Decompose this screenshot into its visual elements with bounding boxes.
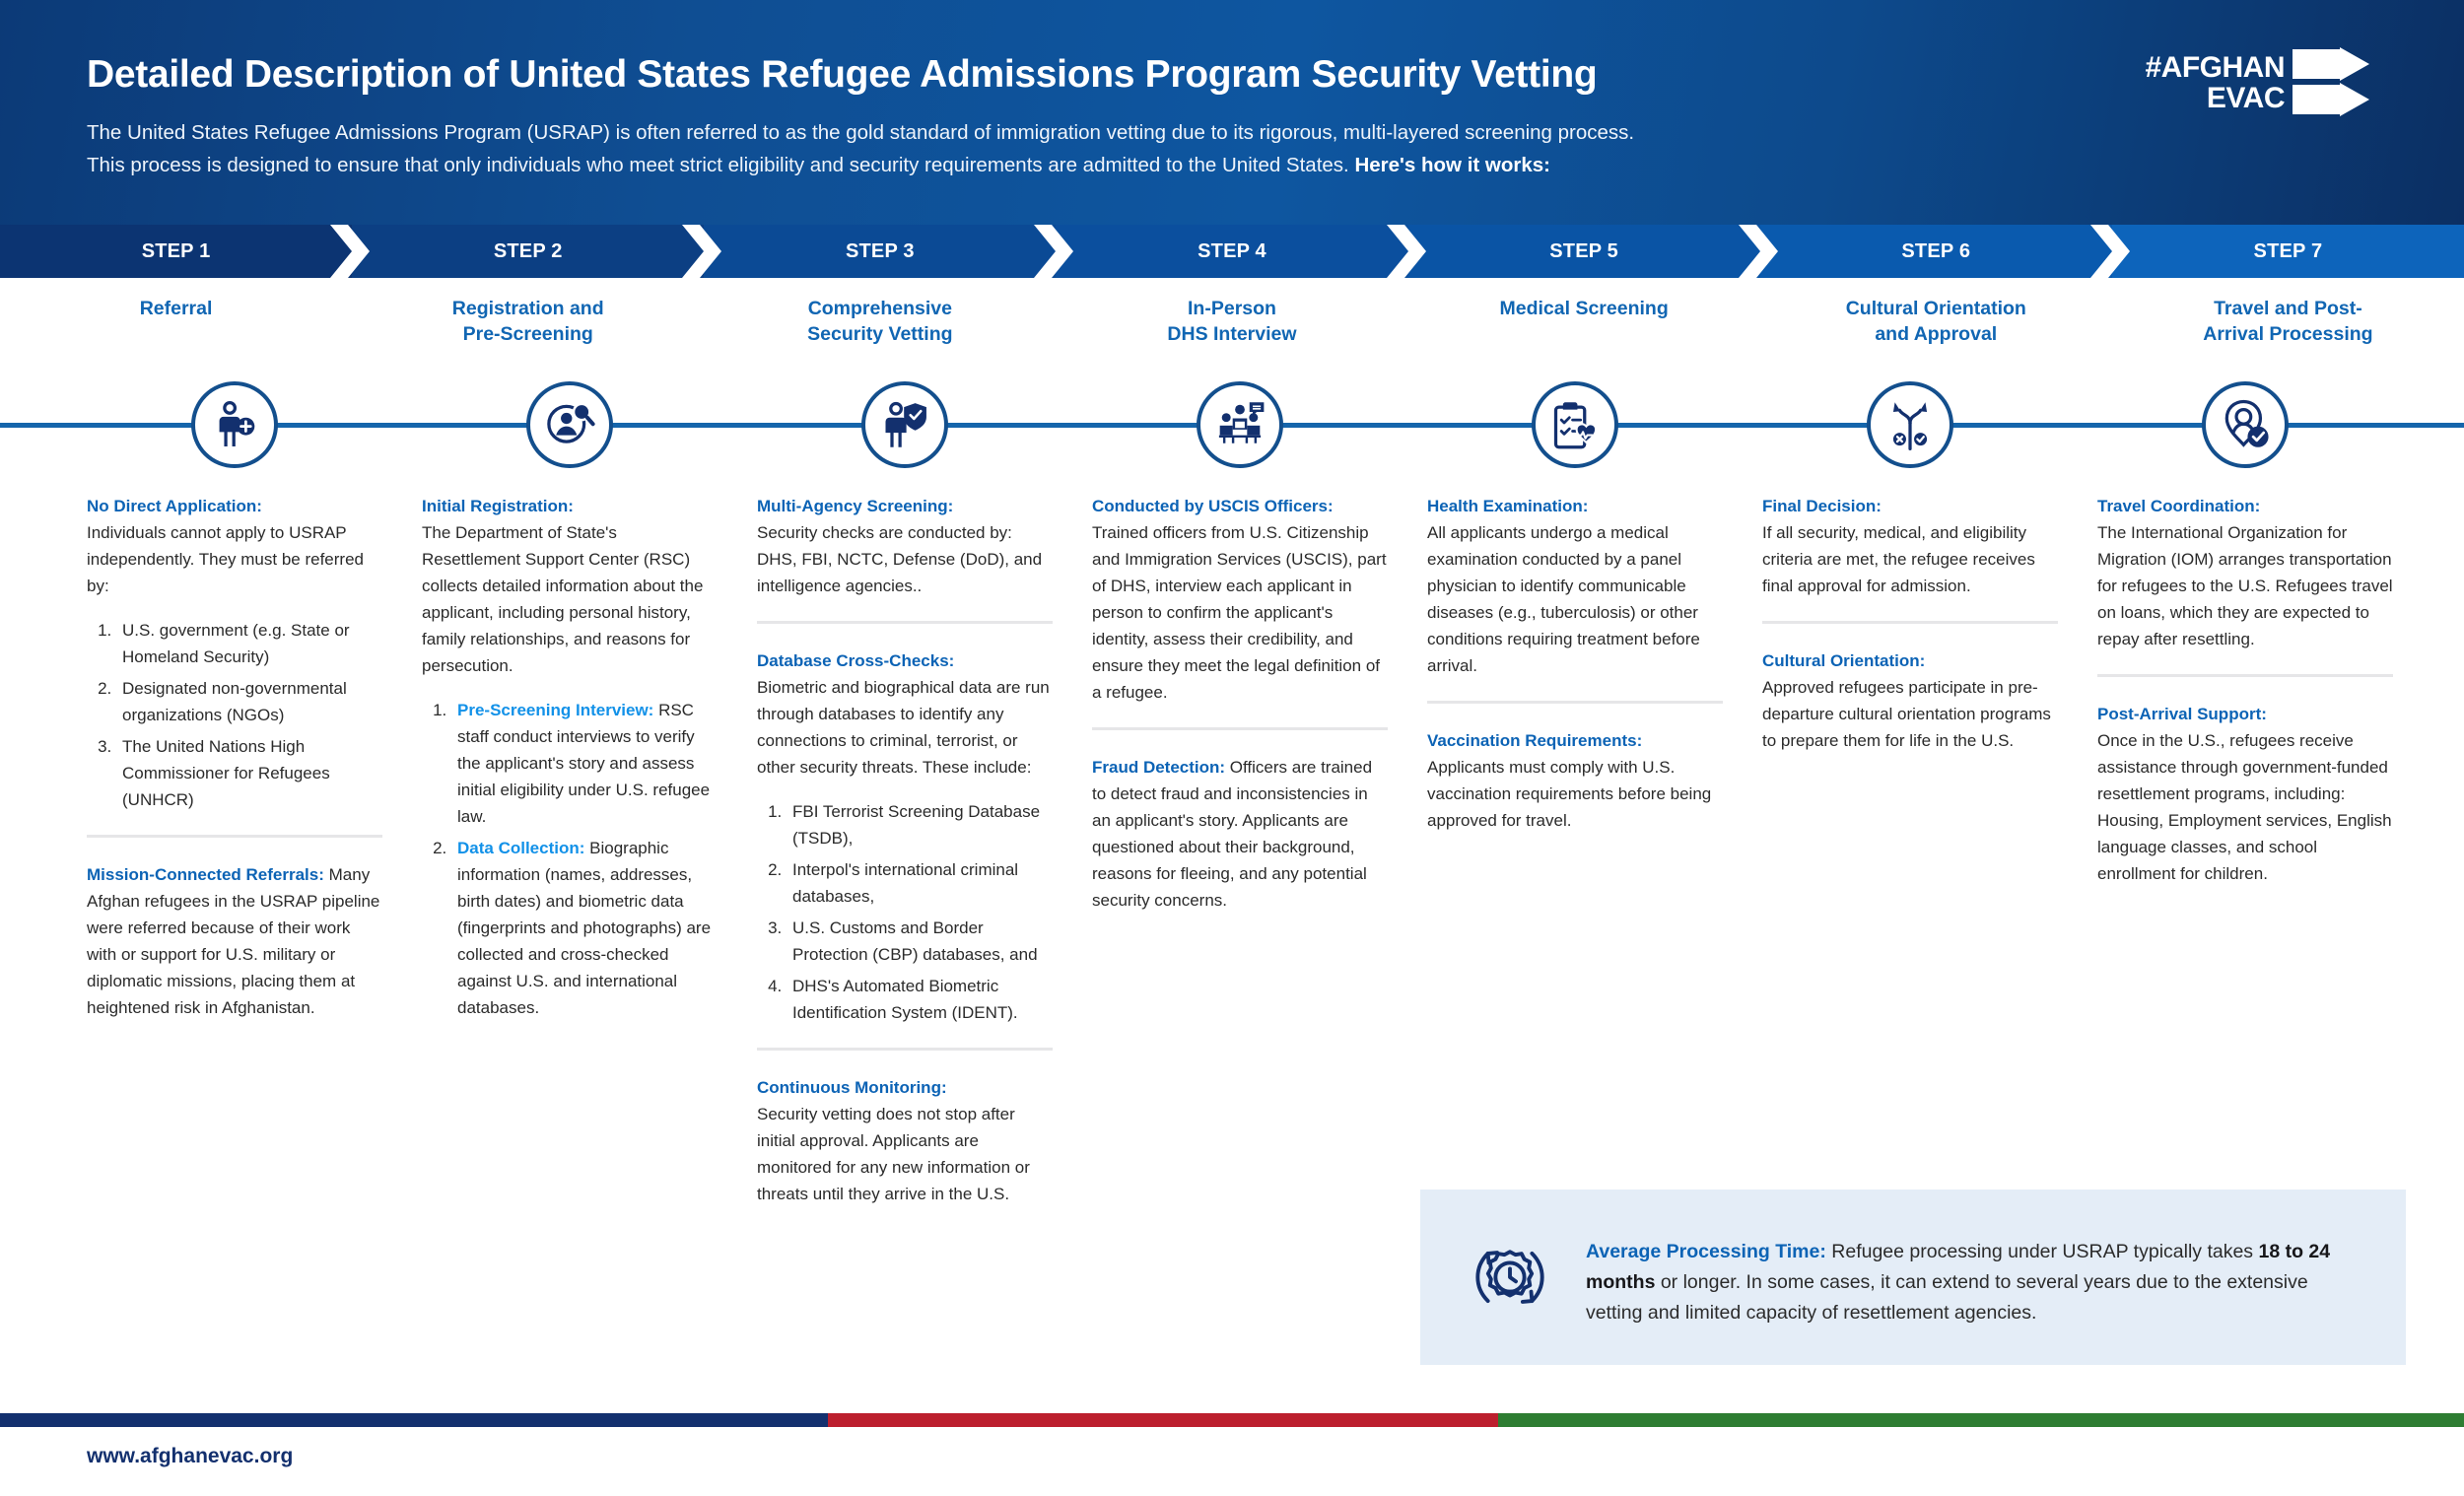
block-paragraph: Multi-Agency Screening:Security checks a… [757, 493, 1053, 599]
block-divider [757, 1048, 1053, 1051]
step-band-segment-2[interactable]: STEP 2 [352, 225, 704, 278]
step-node-7[interactable] [2202, 381, 2289, 468]
clock-gear-icon [1468, 1235, 1552, 1320]
callout-heading: Average Processing Time: [1586, 1241, 1826, 1262]
block-paragraph: No Direct Application:Individuals cannot… [87, 493, 382, 599]
block-heading: Initial Registration: [422, 497, 574, 515]
step-column-4: Conducted by USCIS Officers:Trained offi… [1092, 493, 1388, 914]
content-block: Fraud Detection: Officers are trained to… [1092, 754, 1388, 914]
block-heading: Final Decision: [1762, 497, 1882, 515]
list-item-text: RSC staff conduct interviews to verify t… [457, 701, 710, 826]
page-header: Detailed Description of United States Re… [0, 0, 2464, 225]
list-item: The United Nations High Commissioner for… [116, 733, 382, 813]
step-band-segment-5[interactable]: STEP 5 [1408, 225, 1760, 278]
content-block: Post-Arrival Support:Once in the U.S., r… [2097, 701, 2393, 887]
list-item-label: Pre-Screening Interview: [457, 701, 653, 719]
step-node-5[interactable] [1532, 381, 1618, 468]
block-body: Approved refugees participate in pre-dep… [1762, 678, 2051, 750]
step-badge-label: STEP 7 [2254, 240, 2323, 263]
block-body: The Department of State's Resettlement S… [422, 523, 703, 675]
block-heading: Cultural Orientation: [1762, 651, 1925, 670]
step-column-5: Health Examination:All applicants underg… [1427, 493, 1723, 834]
block-heading: Multi-Agency Screening: [757, 497, 953, 515]
block-divider [1762, 621, 2058, 624]
footer-color-bar [0, 1413, 2464, 1427]
block-paragraph: Final Decision:If all security, medical,… [1762, 493, 2058, 599]
callout-text-b: or longer. In some cases, it can extend … [1586, 1271, 2308, 1324]
list-item: Pre-Screening Interview: RSC staff condu… [451, 697, 718, 830]
block-paragraph: Continuous Monitoring:Security vetting d… [757, 1074, 1053, 1207]
footer-bar-green [1498, 1413, 2464, 1427]
block-paragraph: Vaccination Requirements:Applicants must… [1427, 727, 1723, 834]
step-title-7: Travel and Post-Arrival Processing [2112, 296, 2464, 347]
page-title: Detailed Description of United States Re… [87, 53, 1597, 97]
step-column-7: Travel Coordination:The International Or… [2097, 493, 2393, 887]
double-arrow-icon [2293, 47, 2371, 118]
location-person-check-icon [2220, 399, 2271, 450]
footer-bar-navy [0, 1413, 828, 1427]
list-item: Data Collection: Biographic information … [451, 835, 718, 1021]
block-heading: Continuous Monitoring: [757, 1078, 947, 1097]
step-title-3: ComprehensiveSecurity Vetting [704, 296, 1056, 347]
list-item: FBI Terrorist Screening Database (TSDB), [787, 798, 1053, 851]
step-node-6[interactable] [1867, 381, 1953, 468]
content-block: Mission-Connected Referrals: Many Afghan… [87, 861, 382, 1021]
content-block: Conducted by USCIS Officers:Trained offi… [1092, 493, 1388, 706]
step-title-2: Registration andPre-Screening [352, 296, 704, 347]
step-node-2[interactable] [526, 381, 613, 468]
step-title-5: Medical Screening [1408, 296, 1760, 321]
logo-line-2: EVAC [2117, 83, 2285, 113]
step-column-1: No Direct Application:Individuals cannot… [87, 493, 382, 1021]
footer-website-link[interactable]: www.afghanevac.org [87, 1445, 293, 1468]
step-node-1[interactable] [191, 381, 278, 468]
list-item: Interpol's international criminal databa… [787, 856, 1053, 910]
step-column-3: Multi-Agency Screening:Security checks a… [757, 493, 1053, 1207]
step-title-1: Referral [0, 296, 352, 321]
content-block: Vaccination Requirements:Applicants must… [1427, 727, 1723, 834]
block-divider [87, 835, 382, 838]
step-badge-label: STEP 4 [1198, 240, 1266, 263]
step-badge-label: STEP 3 [846, 240, 915, 263]
step-band-segment-6[interactable]: STEP 6 [1760, 225, 2112, 278]
block-heading: No Direct Application: [87, 497, 262, 515]
content-block: Health Examination:All applicants underg… [1427, 493, 1723, 679]
step-chevron-separator-4 [1387, 225, 1426, 278]
block-divider [1427, 701, 1723, 704]
footer-bar-red [828, 1413, 1498, 1427]
step-column-6: Final Decision:If all security, medical,… [1762, 493, 2058, 754]
subtitle-line-2: This process is designed to ensure that … [87, 154, 1354, 176]
block-divider [1092, 727, 1388, 730]
block-body: Once in the U.S., refugees receive assis… [2097, 731, 2392, 883]
afghanevac-logo[interactable]: #AFGHAN EVAC [2117, 47, 2373, 138]
decision-arrows-icon [1884, 399, 1936, 450]
block-paragraph: Travel Coordination:The International Or… [2097, 493, 2393, 652]
step-node-3[interactable] [861, 381, 948, 468]
subtitle-line-1: The United States Refugee Admissions Pro… [87, 121, 1634, 144]
block-paragraph: Conducted by USCIS Officers:Trained offi… [1092, 493, 1388, 706]
step-chevron-separator-6 [2090, 225, 2130, 278]
list-item: Designated non-governmental organization… [116, 675, 382, 728]
block-body: The International Organization for Migra… [2097, 523, 2393, 648]
step-band-segment-1[interactable]: STEP 1 [0, 225, 352, 278]
step-badge-label: STEP 1 [142, 240, 211, 263]
content-block: No Direct Application:Individuals cannot… [87, 493, 382, 813]
content-block: Travel Coordination:The International Or… [2097, 493, 2393, 652]
list-item: U.S. Customs and Border Protection (CBP)… [787, 915, 1053, 968]
block-paragraph: Health Examination:All applicants underg… [1427, 493, 1723, 679]
step-band-segment-4[interactable]: STEP 4 [1056, 225, 1407, 278]
block-body: Many Afghan refugees in the USRAP pipeli… [87, 865, 379, 1017]
list-item: U.S. government (e.g. State or Homeland … [116, 617, 382, 670]
content-block: Database Cross-Checks:Biometric and biog… [757, 647, 1053, 1026]
step-chevron-separator-1 [330, 225, 370, 278]
step-badge-label: STEP 2 [494, 240, 563, 263]
block-heading: Conducted by USCIS Officers: [1092, 497, 1334, 515]
block-divider [757, 621, 1053, 624]
step-chevron-separator-3 [1034, 225, 1073, 278]
block-paragraph: Mission-Connected Referrals: Many Afghan… [87, 861, 382, 1021]
block-body: All applicants undergo a medical examina… [1427, 523, 1700, 675]
interview-panel-icon [1214, 399, 1266, 450]
subtitle-emphasis: Here's how it works: [1354, 154, 1550, 176]
content-block: Final Decision:If all security, medical,… [1762, 493, 2058, 599]
content-block: Continuous Monitoring:Security vetting d… [757, 1074, 1053, 1207]
list-item: DHS's Automated Biometric Identification… [787, 973, 1053, 1026]
person-shield-icon [879, 399, 930, 450]
step-badge-label: STEP 6 [1901, 240, 1970, 263]
block-body: Security vetting does not stop after ini… [757, 1105, 1030, 1203]
block-heading: Travel Coordination: [2097, 497, 2260, 515]
step-band-segment-7[interactable]: STEP 7 [2112, 225, 2464, 278]
block-body: Security checks are conducted by: DHS, F… [757, 523, 1042, 595]
block-paragraph: Initial Registration:The Department of S… [422, 493, 718, 679]
logo-wordmark: #AFGHAN EVAC [2117, 52, 2285, 113]
block-paragraph: Cultural Orientation:Approved refugees p… [1762, 647, 2058, 754]
user-search-icon [544, 399, 595, 450]
block-paragraph: Post-Arrival Support:Once in the U.S., r… [2097, 701, 2393, 887]
step-chevron-separator-2 [682, 225, 721, 278]
block-paragraph: Fraud Detection: Officers are trained to… [1092, 754, 1388, 914]
step-badge-label: STEP 5 [1549, 240, 1618, 263]
list-item-text: Biographic information (names, addresses… [457, 839, 711, 1017]
logo-line-1: #AFGHAN [2117, 52, 2285, 83]
list-item-label: Data Collection: [457, 839, 584, 857]
block-body: Applicants must comply with U.S. vaccina… [1427, 758, 1711, 830]
block-body: Trained officers from U.S. Citizenship a… [1092, 523, 1387, 702]
block-heading: Fraud Detection: [1092, 758, 1225, 777]
block-body: Biometric and biographical data are run … [757, 678, 1050, 777]
medical-clipboard-icon [1549, 399, 1601, 450]
step-band: STEP 1STEP 2STEP 3STEP 4STEP 5STEP 6STEP… [0, 225, 2464, 278]
step-node-4[interactable] [1197, 381, 1283, 468]
block-heading: Database Cross-Checks: [757, 651, 954, 670]
block-paragraph: Database Cross-Checks:Biometric and biog… [757, 647, 1053, 781]
numbered-list: U.S. government (e.g. State or Homeland … [87, 617, 382, 813]
content-block: Multi-Agency Screening:Security checks a… [757, 493, 1053, 599]
callout-text: Average Processing Time: Refugee process… [1586, 1237, 2364, 1328]
block-body: Officers are trained to detect fraud and… [1092, 758, 1372, 910]
block-body: If all security, medical, and eligibilit… [1762, 523, 2035, 595]
average-processing-time-callout: Average Processing Time: Refugee process… [1420, 1190, 2406, 1365]
block-heading: Vaccination Requirements: [1427, 731, 1642, 750]
step-chevron-separator-5 [1739, 225, 1778, 278]
person-plus-icon [209, 399, 260, 450]
block-heading: Health Examination: [1427, 497, 1588, 515]
numbered-list: Pre-Screening Interview: RSC staff condu… [422, 697, 718, 1021]
callout-text-a: Refugee processing under USRAP typically… [1826, 1241, 2259, 1262]
block-divider [2097, 674, 2393, 677]
content-block: Initial Registration:The Department of S… [422, 493, 718, 1021]
block-heading: Post-Arrival Support: [2097, 705, 2267, 723]
page-subtitle: The United States Refugee Admissions Pro… [87, 116, 1634, 181]
step-title-6: Cultural Orientationand Approval [1760, 296, 2112, 347]
step-title-4: In-PersonDHS Interview [1056, 296, 1407, 347]
numbered-list: FBI Terrorist Screening Database (TSDB),… [757, 798, 1053, 1026]
step-column-2: Initial Registration:The Department of S… [422, 493, 718, 1026]
block-body: Individuals cannot apply to USRAP indepe… [87, 523, 364, 595]
block-heading: Mission-Connected Referrals: [87, 865, 324, 884]
step-band-segment-3[interactable]: STEP 3 [704, 225, 1056, 278]
content-block: Cultural Orientation:Approved refugees p… [1762, 647, 2058, 754]
